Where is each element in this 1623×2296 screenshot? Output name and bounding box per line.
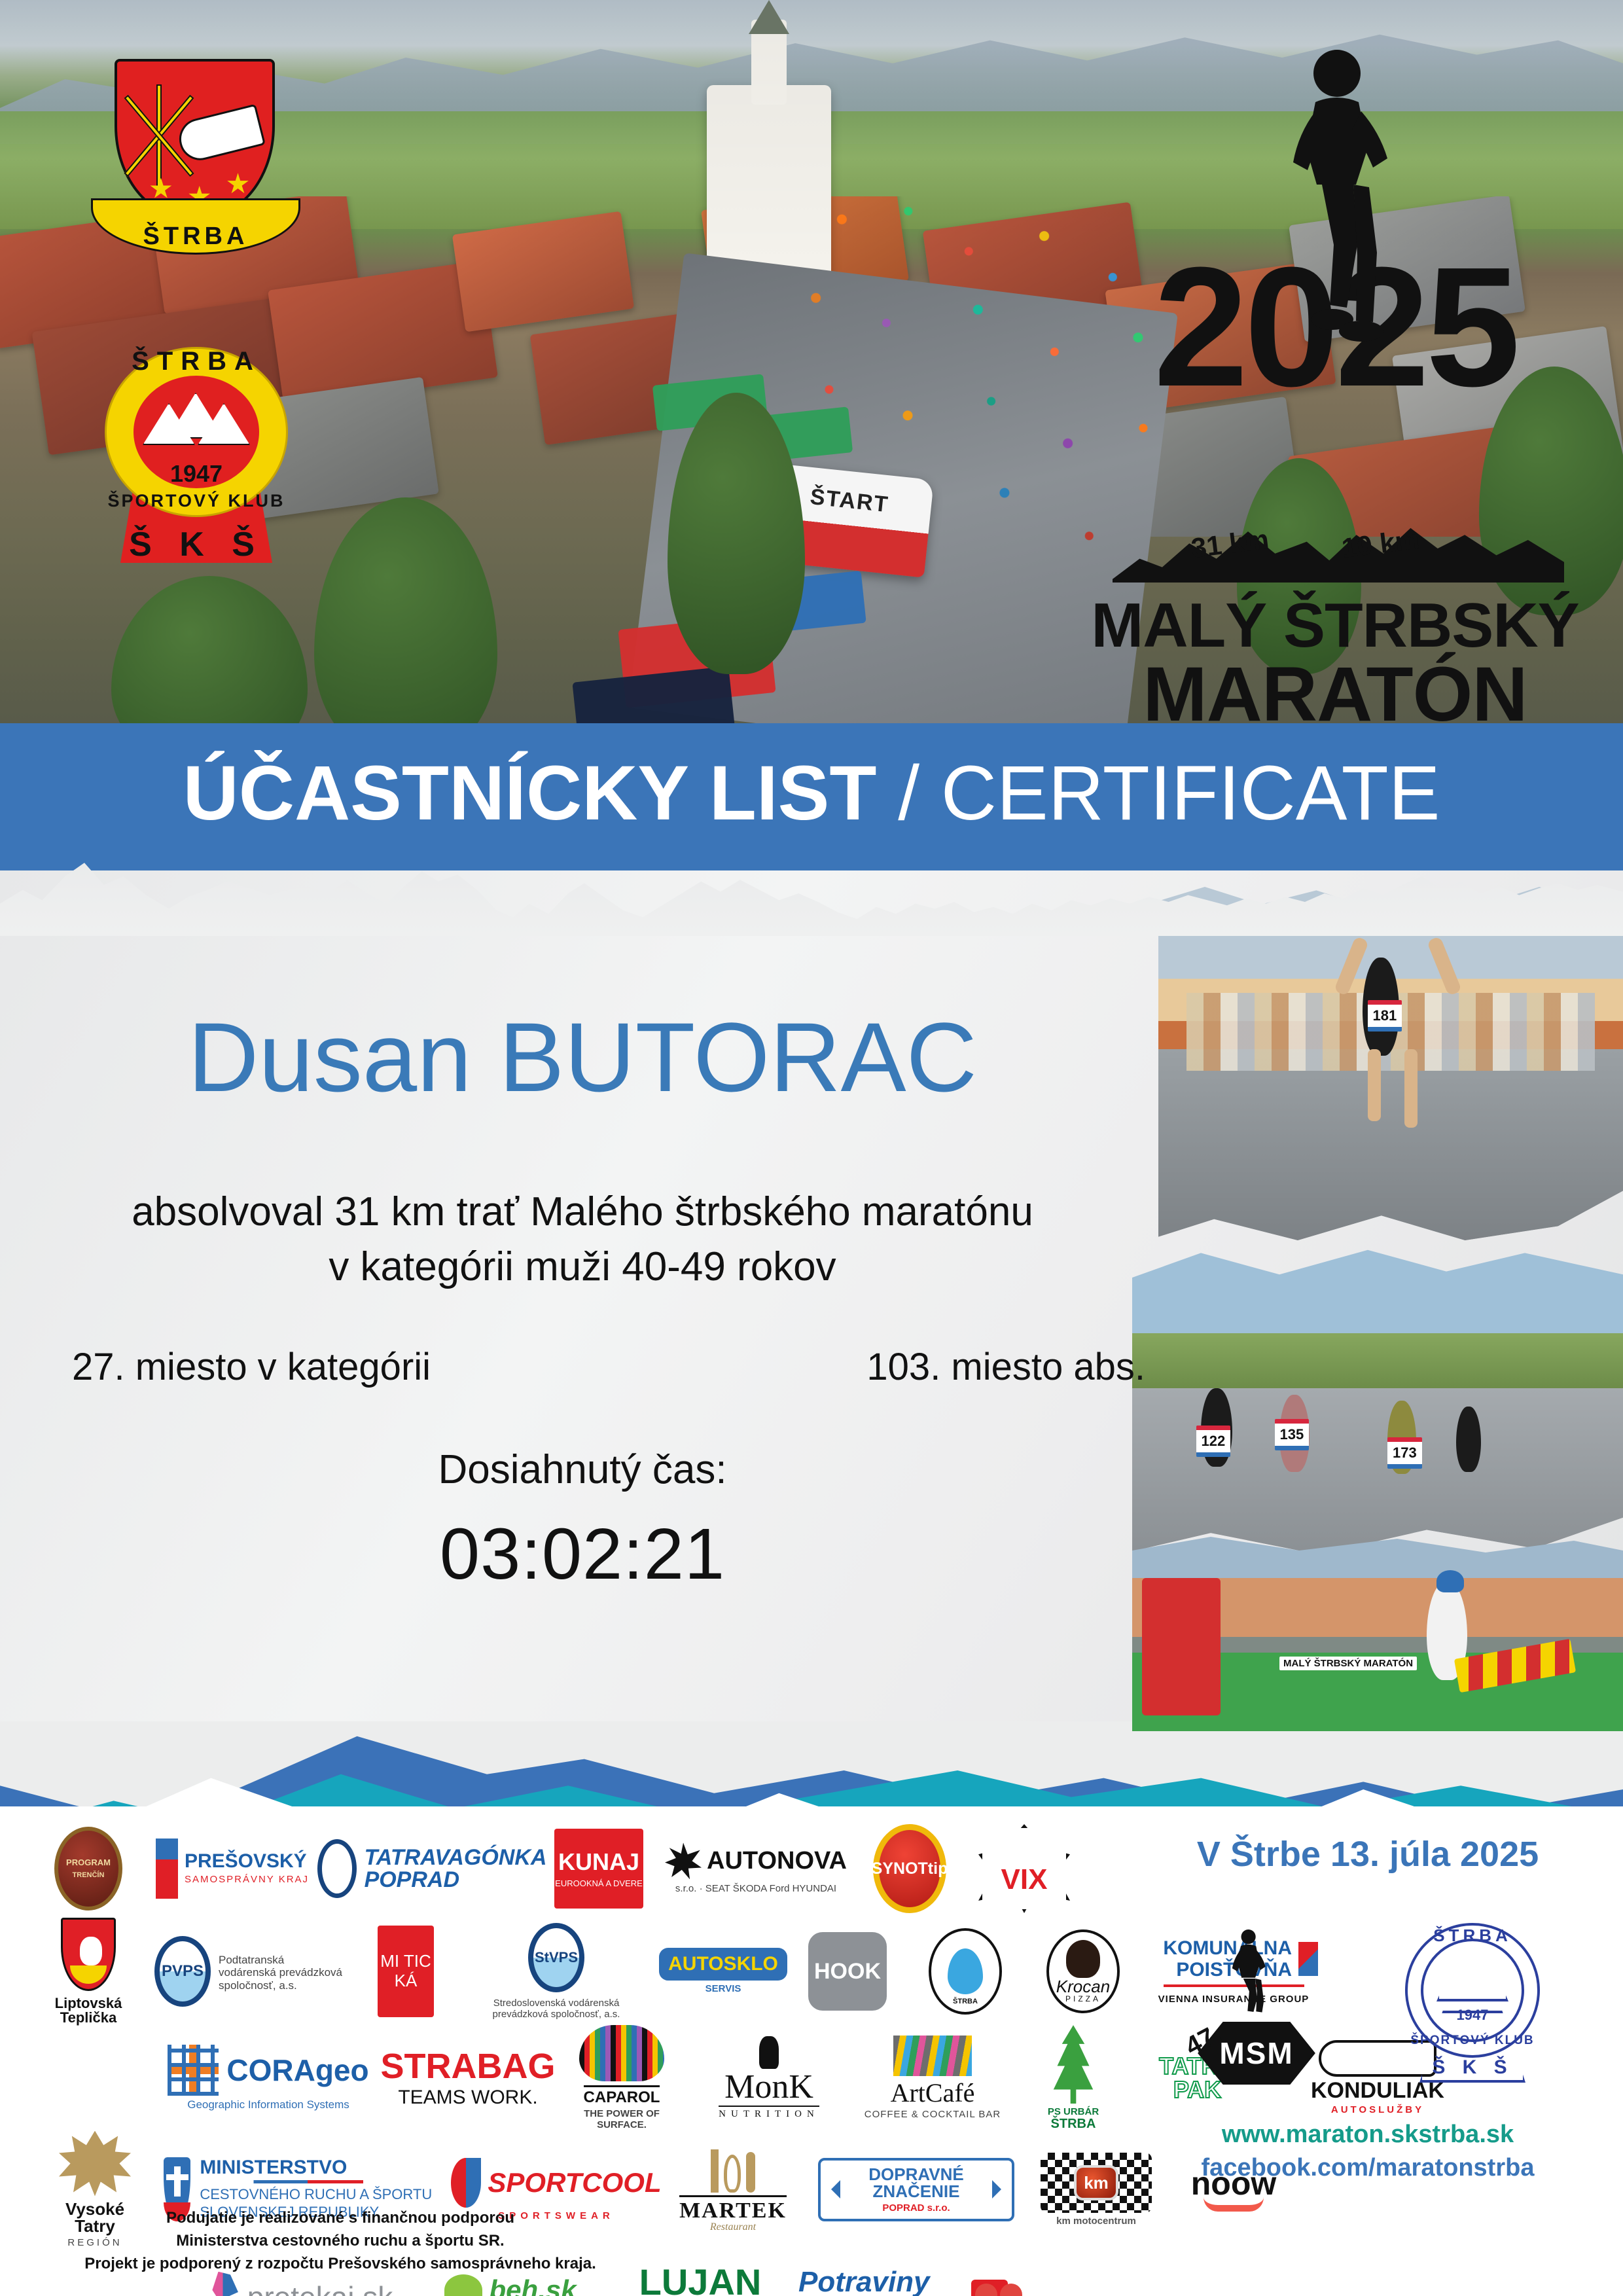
sponsor-logo[interactable]: CORAgeo Geographic Information Systems	[164, 2045, 373, 2111]
sponsor-logo[interactable]: PVPS Podtatranská vodárenská prevádzková…	[151, 1936, 347, 2007]
bib-number-173: 173	[1387, 1437, 1422, 1469]
website-link[interactable]: www.maraton.skstrba.sk	[1139, 2118, 1597, 2151]
sponsor-name: STRABAG	[381, 2049, 556, 2084]
sponsor-name: CAPAROL	[584, 2085, 660, 2106]
sponsor-name: Potraviny ŠERFEL	[798, 2267, 965, 2296]
sks-year: 1947	[105, 462, 288, 486]
sponsor-logo[interactable]: MonK NUTRITION	[700, 2036, 838, 2119]
place-in-category: 27. miesto v kategórii	[72, 1348, 431, 1386]
sponsor-name: CORAgeo	[226, 2055, 368, 2085]
bib-number-122: 122	[1196, 1426, 1231, 1457]
artcafe-cup-icon	[893, 2036, 972, 2076]
runner-silhouette-icon	[1270, 46, 1407, 353]
photo-collage: 181 122 135 173 MALÝ ŠTRBSKÝ MARATÓN	[1113, 880, 1623, 1731]
sponsor-name: AUTONOVA	[707, 1848, 847, 1873]
behsk-arc-icon	[444, 2274, 482, 2296]
sponsor-name: StVPS	[528, 1923, 584, 1992]
sponsor-logo[interactable]: TATRAVAGÓNKA POPRAD	[334, 1839, 530, 1898]
tatravagonka-oval-icon	[317, 1839, 357, 1898]
sponsor-logo[interactable]: ŠTRBA	[916, 1928, 1014, 2015]
sponsor-logo[interactable]: KUNAJ EUROOKNÁ A DVERE	[550, 1829, 648, 1909]
psk-flag-icon	[156, 1839, 178, 1899]
sks-abbrev: Š K Š	[105, 528, 288, 562]
event-title-block: 2025 31 km 10 km MALÝ ŠTRBSKÝ MARATÓN 47…	[1073, 46, 1597, 622]
sponsor-sub: POPRAD	[365, 1869, 547, 1891]
sponsor-name: PVPS	[154, 1936, 211, 2007]
sponsor-sub: Geographic Information Systems	[187, 2098, 349, 2111]
sponsor-sub: EUROOKNÁ A DVERE	[555, 1879, 643, 1888]
sponsor-name: beh.sk	[489, 2276, 576, 2296]
stamp-abbrev: Š K Š	[1391, 2058, 1554, 2077]
sponsor-sub: THE POWER OF SURFACE.	[563, 2108, 681, 2131]
sponsor-logo[interactable]: AUTONOVA s.r.o. · SEAT ŠKODA Ford HYUNDA…	[668, 1842, 844, 1894]
sponsor-sub: PIZZA	[1065, 1995, 1101, 2003]
description-line-1: absolvoval 31 km trať Malého štrbského m…	[0, 1185, 1165, 1240]
club-stamp-icon: ŠTRBA 1947 ŠPORTOVÝ KLUB Š K Š	[1391, 1912, 1554, 2088]
stamp-arc-text: ŠPORTOVÝ KLUB	[1391, 2034, 1554, 2047]
sportcool-swoosh-icon	[451, 2158, 481, 2208]
banner-title-sk: ÚČASTNÍCKY LIST	[183, 750, 877, 836]
stamp-top-text: ŠTRBA	[1391, 1927, 1554, 1944]
sponsor-name: MARTEK	[679, 2195, 787, 2222]
sponsor-row: CORAgeo Geographic Information Systems S…	[46, 2025, 1119, 2131]
sponsor-name: PREŠOVSKÝ	[185, 1852, 309, 1871]
banner-separator: /	[876, 750, 940, 836]
sponsor-logo[interactable]: Liptovská Teplička	[46, 1918, 131, 2025]
sponsor-logo[interactable]: beh.sk Web, ktorý vás rozhýbe	[419, 2274, 602, 2296]
sponsor-sub: Stredoslovenská vodárenská prevádzková s…	[474, 1998, 638, 2020]
sponsor-name: TATRAVAGÓNKA	[365, 1846, 547, 1869]
autonova-star-icon	[665, 1842, 702, 1879]
sponsor-sub: Restaurant	[710, 2222, 756, 2233]
sponsor-name: Liptovská	[55, 1996, 122, 2011]
date-and-place: V Štrbe 13. júla 2025	[1139, 1837, 1597, 1872]
stamp-year: 1947	[1391, 2008, 1554, 2022]
sponsor-logo[interactable]: PROGRAM TRENČÍN	[46, 1827, 131, 1910]
sponsor-logo[interactable]: HOOK	[798, 1932, 897, 2011]
funding-note-line-2: Ministerstva cestovného ruchu a športu S…	[52, 2230, 628, 2253]
sponsor-name: SPORTCOOL	[488, 2169, 661, 2197]
urbar-tree-icon	[1050, 2025, 1097, 2104]
sks-arc-text: ŠPORTOVÝ KLUB	[105, 492, 288, 510]
msm-runner-silhouette	[1207, 1908, 1306, 2032]
certificate-page: ŠTRBA ŠTRBA 1947 ŠPORTOVÝ KLUB Š K Š	[0, 0, 1623, 2296]
bib-number-181: 181	[1368, 1000, 1402, 1031]
sks-top-text: ŠTRBA	[105, 348, 288, 374]
sponsor-sub: ŠTRBA	[953, 1998, 978, 2005]
funding-note: Podujatie je realizované s finančnou pod…	[52, 2207, 628, 2275]
footer-sponsors: PROGRAM TRENČÍN PREŠOVSKÝ SAMOSPRÁVNY KR…	[0, 1806, 1623, 2296]
sponsor-name: HOOK	[808, 1932, 887, 2011]
sponsor-logo[interactable]: PS URBÁR ŠTRBA	[1027, 2025, 1119, 2130]
sponsor-logo[interactable]: Potraviny ŠERFEL	[798, 2267, 1008, 2296]
sponsor-sub: SAMOSPRÁVNY KRAJ	[185, 1874, 309, 1885]
mountain-ridge-icon	[1113, 497, 1564, 583]
sponsor-name: DOPRAVNÉ ZNAČENIE	[847, 2166, 986, 2200]
sponsor-logo[interactable]: CAPAROL THE POWER OF SURFACE.	[563, 2025, 681, 2131]
funding-note-line-3: Projekt je podporený z rozpočtu Prešovsk…	[52, 2253, 628, 2276]
sponsor-sub: POPRAD s.r.o.	[847, 2202, 986, 2214]
sponsor-sub: TRENČÍN	[73, 1871, 105, 1879]
sponsor-name: ArtCafé	[891, 2080, 975, 2106]
facebook-link[interactable]: facebook.com/maratonstrba	[1139, 2151, 1597, 2185]
sponsor-logo[interactable]: ArtCafé COFFEE & COCKTAIL BAR	[857, 2036, 1008, 2120]
time-label: Dosiahnutý čas:	[0, 1450, 1165, 1490]
recipient-name: Dusan BUTORAC	[0, 1008, 1165, 1106]
sponsor-name: MINISTERSTVO	[200, 2158, 445, 2178]
sponsor-name: km motocentrum	[1056, 2215, 1136, 2227]
footer-right-column: V Štrbe 13. júla 2025 MSM	[1139, 1820, 1597, 2185]
sponsor-sub: COFFEE & COCKTAIL BAR	[865, 2109, 1001, 2120]
sponsor-sub: SERVIS	[705, 1983, 741, 1994]
sponsor-sub: NUTRITION	[719, 2106, 819, 2119]
monk-figure-icon	[759, 2036, 779, 2069]
sponsor-logo[interactable]: LUJAN Plus s.r.o.	[622, 2264, 779, 2296]
photo-finishing-runner: 181	[1158, 887, 1623, 1240]
sponsor-sub: ŠTRBA	[1051, 2117, 1096, 2130]
sponsor-logo[interactable]: VIX	[975, 1824, 1073, 1913]
place-absolute: 103. miesto abs.	[866, 1348, 1145, 1386]
finish-time-value: 03:02:21	[0, 1518, 1165, 1590]
sponsor-logo[interactable]: MI TIC KÁ	[366, 1926, 445, 2017]
sponsor-name: PS URBÁR	[1048, 2106, 1099, 2117]
sponsor-name: LUJAN	[639, 2264, 762, 2296]
msm-logo-icon: MSM 47.	[1181, 1912, 1332, 2089]
sponsor-logo[interactable]: AUTOSKLO SERVIS	[668, 1948, 779, 1994]
sponsor-sub: s.r.o. · SEAT ŠKODA Ford HYUNDAI	[675, 1883, 836, 1894]
sponsor-row: PROGRAM TRENČÍN PREŠOVSKÝ SAMOSPRÁVNY KR…	[46, 1820, 1119, 1918]
caparol-elephant-icon	[579, 2025, 664, 2081]
funding-note-line-1: Podujatie je realizované s finančnou pod…	[52, 2207, 628, 2230]
organizer-logos: MSM 47. ŠTRBA 1947 ŠPORTOVÝ KLUB Š K Š	[1139, 1902, 1597, 2098]
banner-title-en: CERTIFICATE	[941, 750, 1440, 836]
finish-banner-caption: MALÝ ŠTRBSKÝ MARATÓN	[1279, 1657, 1417, 1670]
sponsor-name: MI TIC KÁ	[378, 1952, 434, 1991]
sponsor-logo[interactable]: StVPS Stredoslovenská vodárenská prevádz…	[465, 1923, 648, 2020]
certificate-banner-title: ÚČASTNÍCKY LIST / CERTIFICATE	[0, 732, 1623, 855]
photo-hill-runners: 122 135 173	[1132, 1247, 1623, 1554]
sponsor-sub: TEAMS WORK.	[398, 2088, 537, 2108]
corageo-grid-icon	[168, 2045, 219, 2096]
sponsor-logo[interactable]: Krocan PIZZA	[1034, 1929, 1132, 2013]
sponsor-sub: Teplička	[60, 2011, 116, 2025]
sponsor-name: SYNOTtip	[872, 1861, 948, 1877]
sks-club-logo-icon: ŠTRBA 1947 ŠPORTOVÝ KLUB Š K Š	[105, 308, 288, 569]
bib-number-135: 135	[1275, 1419, 1310, 1450]
sponsor-sub: Podtatranská vodárenská prevádzková spol…	[219, 1954, 343, 1992]
sponsor-name: VIX	[982, 1865, 1066, 1894]
event-name-line2: MARATÓN	[1073, 656, 1597, 733]
sponsor-logo[interactable]: MARTEK Restaurant	[668, 2147, 798, 2233]
strba-municipal-crest-icon: ŠTRBA	[115, 59, 275, 219]
sponsor-name: Krocan	[1056, 1978, 1110, 1995]
vysoke-tatry-chamois-icon	[59, 2131, 131, 2197]
sponsor-logo[interactable]: SYNOTtip	[864, 1824, 955, 1913]
sponsor-logo[interactable]: STRABAG TEAMS WORK.	[393, 2049, 543, 2108]
sponsor-name: PROGRAM	[66, 1858, 111, 1867]
sponsor-name: pretekaj.sk	[247, 2282, 393, 2296]
event-name-line1: MALÝ ŠTRBSKÝ	[1073, 594, 1597, 657]
description-line-2: v kategórii muži 40-49 rokov	[0, 1240, 1165, 1295]
sponsor-name: AUTOSKLO	[659, 1948, 787, 1981]
sponsor-name: KUNAJ	[558, 1850, 639, 1874]
sponsor-logo[interactable]: DOPRAVNÉ ZNAČENIE POPRAD s.r.o.	[818, 2158, 1014, 2221]
sponsor-logo[interactable]: PREŠOVSKÝ SAMOSPRÁVNY KRAJ	[151, 1839, 314, 1899]
sponsor-row: Liptovská Teplička PVPS Podtatranská vod…	[46, 1918, 1119, 2025]
achievement-description: absolvoval 31 km trať Malého štrbského m…	[0, 1185, 1165, 1294]
sponsor-name: MonK	[724, 2070, 813, 2104]
placement-row: 27. miesto v kategórii 103. miesto abs.	[72, 1348, 1145, 1386]
